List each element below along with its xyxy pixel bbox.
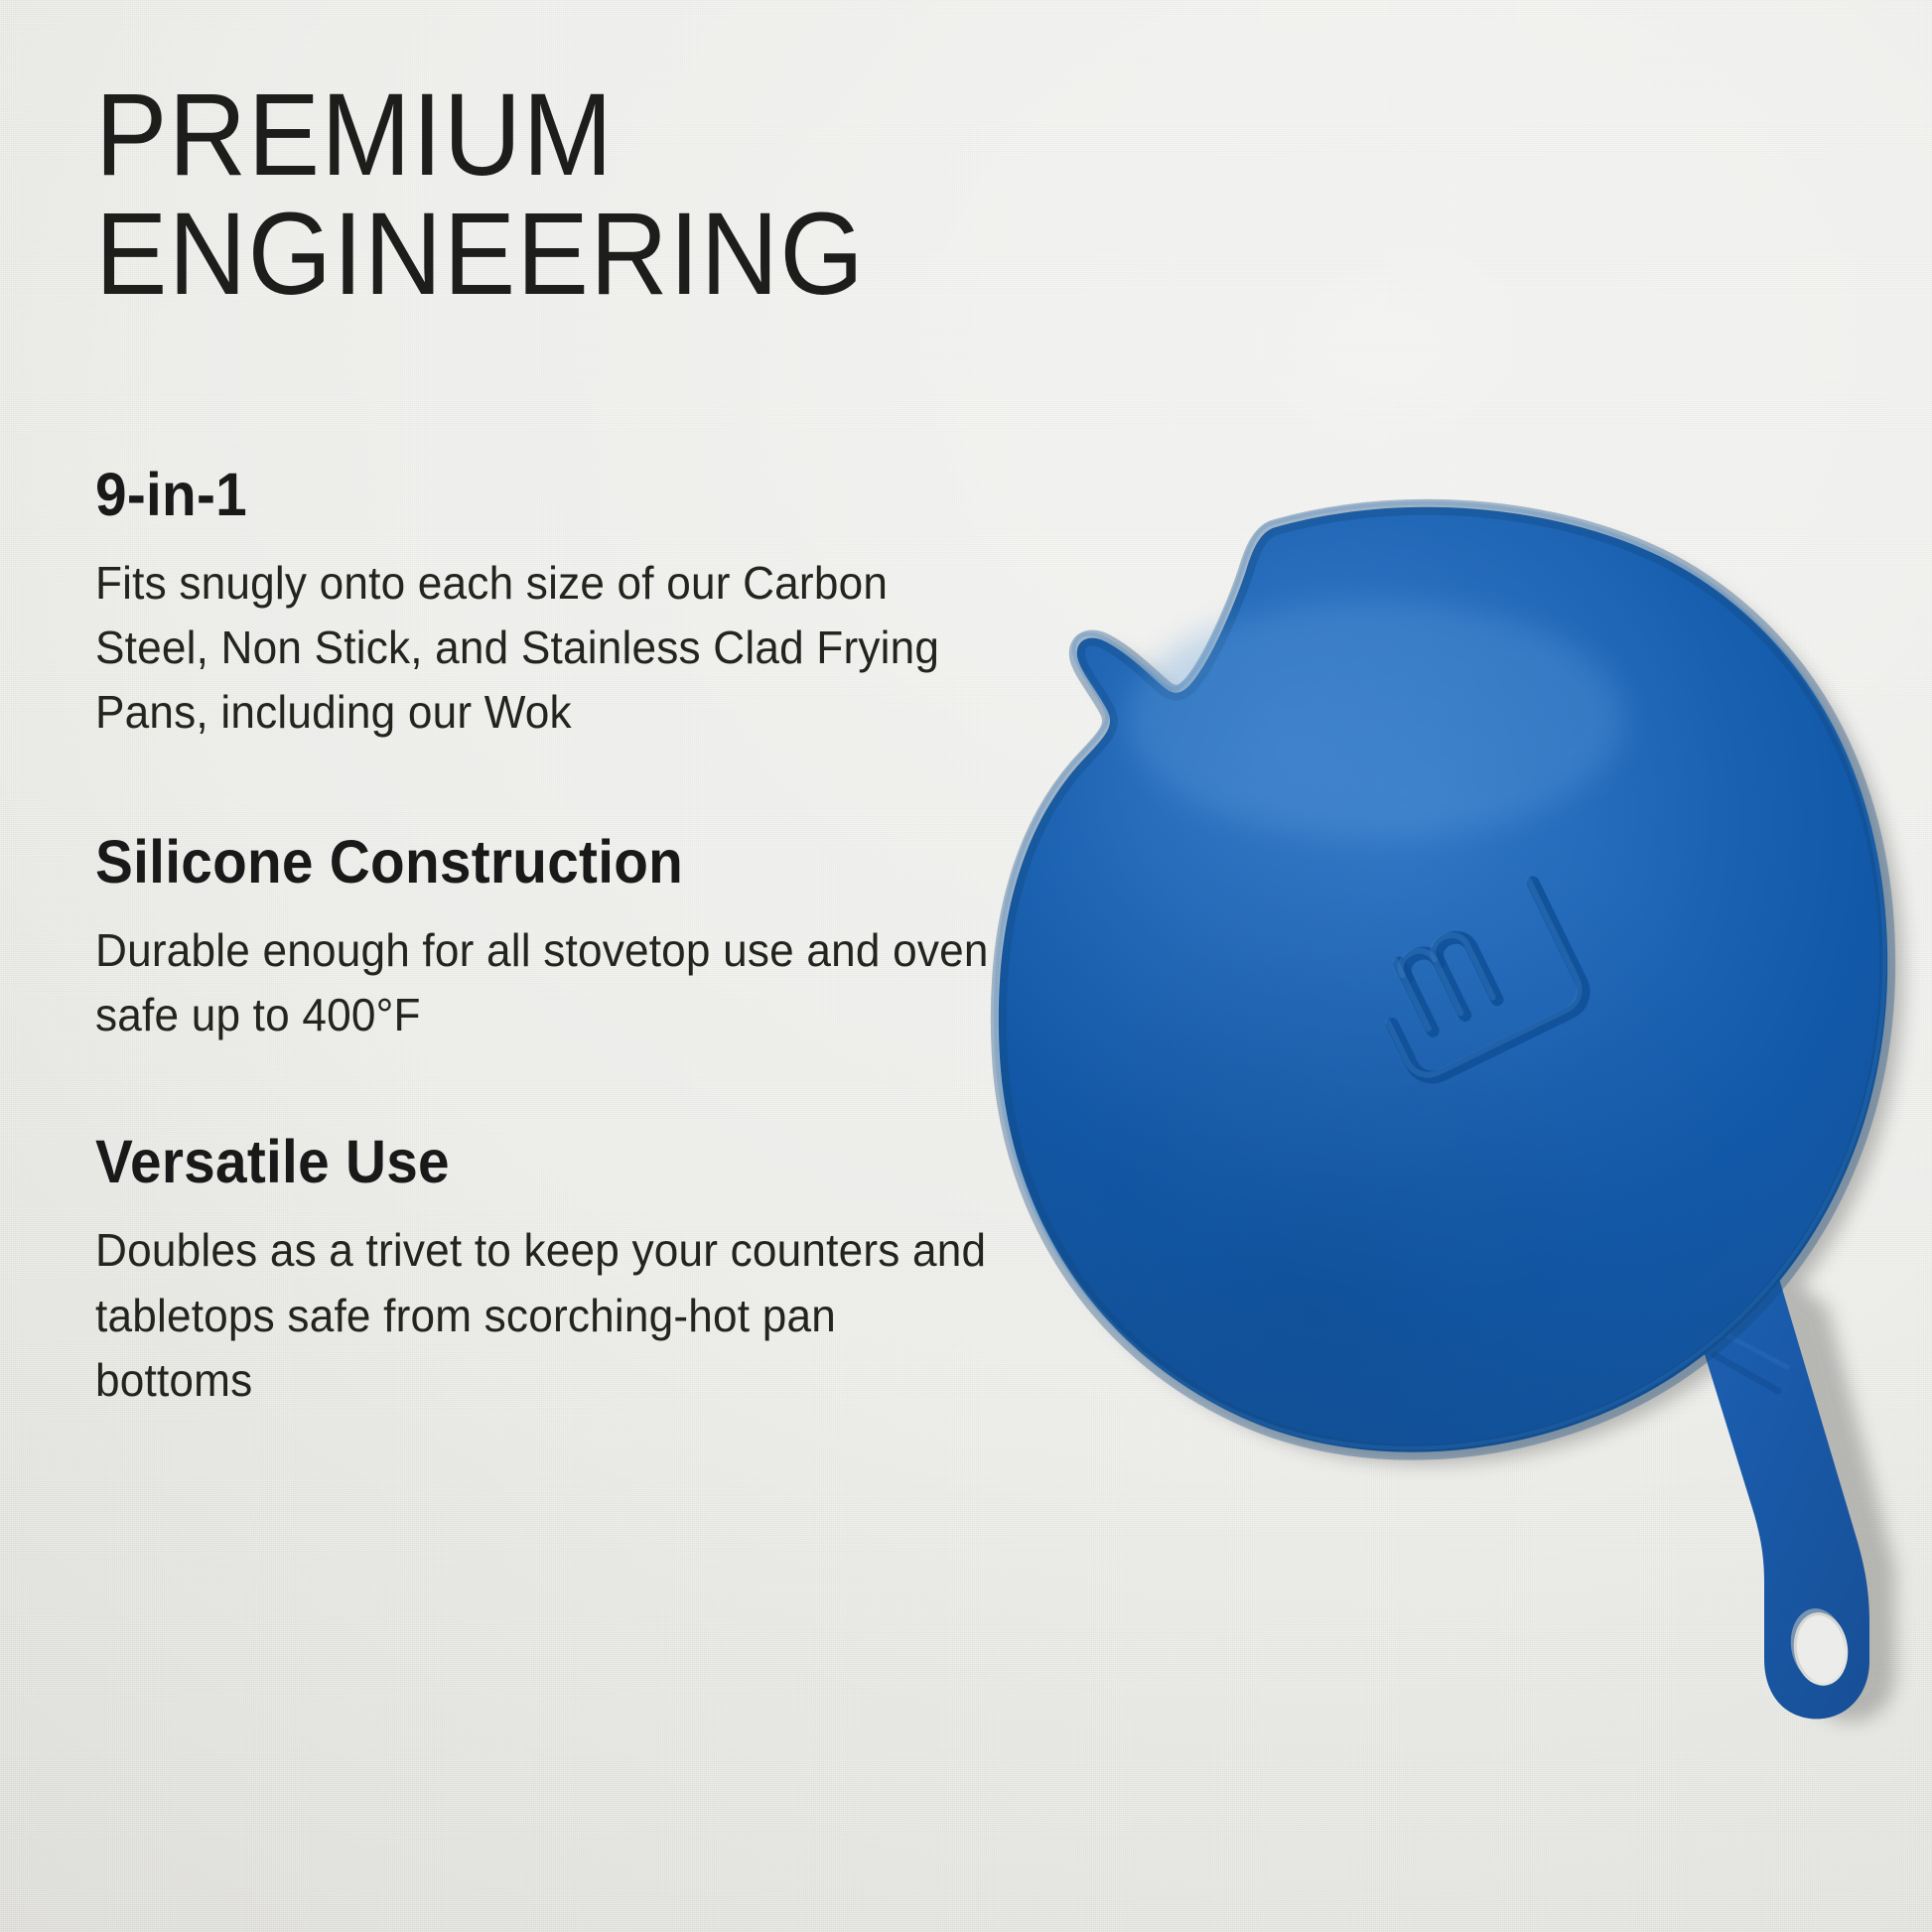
feature-body: Fits snugly onto each size of our Carbon… — [95, 551, 991, 746]
page-title: PREMIUM ENGINEERING — [95, 75, 954, 315]
feature-section-versatile-use: Versatile Use Doubles as a trivet to kee… — [95, 1127, 1029, 1413]
feature-heading: Versatile Use — [95, 1127, 963, 1196]
feature-heading: Silicone Construction — [95, 827, 963, 897]
feature-body: Doubles as a trivet to keep your counter… — [95, 1218, 991, 1413]
product-image-silicone-lid — [948, 422, 1932, 1742]
feature-heading: 9-in-1 — [95, 460, 963, 529]
feature-section-9-in-1: 9-in-1 Fits snugly onto each size of our… — [95, 460, 1029, 746]
marketing-image: PREMIUM ENGINEERING 9-in-1 Fits snugly o… — [0, 0, 1932, 1932]
feature-section-silicone-construction: Silicone Construction Durable enough for… — [95, 827, 1029, 1048]
copy-column: PREMIUM ENGINEERING 9-in-1 Fits snugly o… — [95, 75, 1029, 1413]
feature-body: Durable enough for all stovetop use and … — [95, 918, 991, 1048]
